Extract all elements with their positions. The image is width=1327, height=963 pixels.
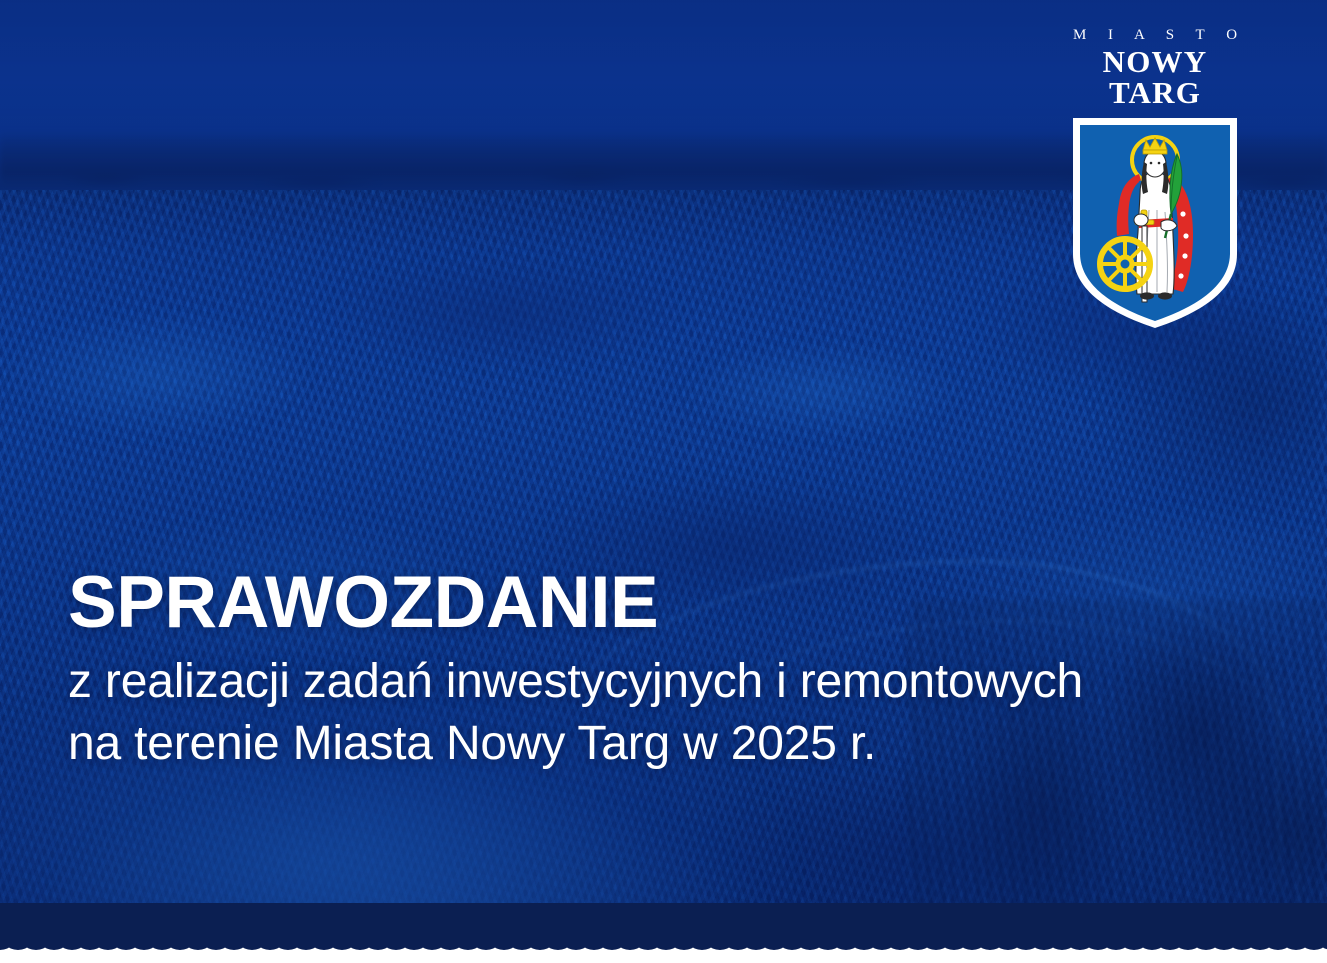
page-subtitle-line-1: z realizacji zadań inwestycyjnych i remo… [68, 651, 1083, 713]
page-subtitle-line-2: na terenie Miasta Nowy Targ w 2025 r. [68, 713, 1083, 775]
folk-pattern-border [0, 903, 1327, 963]
cover-poster: M I A S T O NOWY TARG [0, 0, 1327, 963]
brand-eyebrow-label: M I A S T O [1055, 28, 1255, 43]
page-title: SPRAWOZDANIE [68, 566, 1083, 639]
brand-city-name: NOWY TARG [1055, 46, 1255, 108]
coat-of-arms-icon [1069, 114, 1241, 332]
headline-block: SPRAWOZDANIE z realizacji zadań inwestyc… [68, 566, 1083, 776]
city-brand-block: M I A S T O NOWY TARG [1055, 28, 1255, 332]
